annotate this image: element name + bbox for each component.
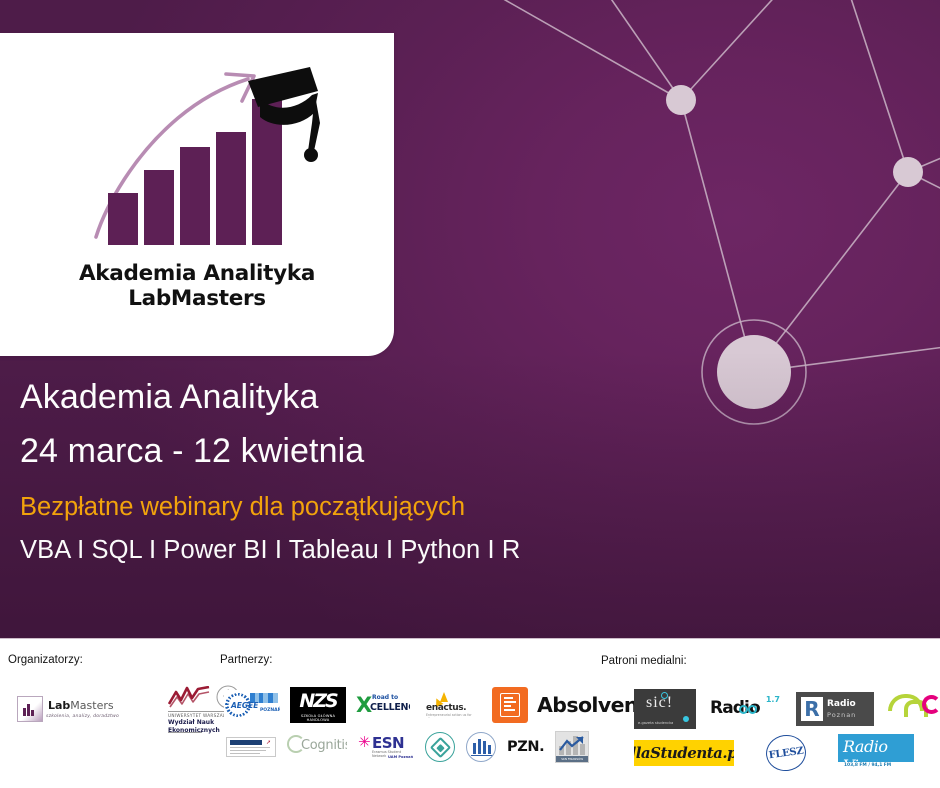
road-to-excellence-line1: Road to xyxy=(372,694,398,701)
flesz-wordmark: FLESZ xyxy=(768,745,804,761)
organizers-heading: Organizatorzy: xyxy=(8,654,83,666)
event-topics: VBA I SQL I Power BI I Tableau I Python … xyxy=(20,538,710,564)
radio-17-number: 1.7 xyxy=(766,695,780,704)
maturzysci-arrow-icon: ➚ xyxy=(266,739,271,746)
media-heading: Patroni medialni: xyxy=(601,655,687,667)
pzn-crest-icon xyxy=(466,732,496,762)
uw-wne-zigzag-icon xyxy=(168,686,210,708)
sknfm-arrow-icon xyxy=(559,736,585,752)
enactus-tagline: Entrepreneurial action us for others xyxy=(426,713,476,718)
radio-poznan-line1: Radio xyxy=(827,699,856,709)
aegee-city: POZNAŃ xyxy=(260,708,280,713)
sic-wordmark: sic! xyxy=(646,694,673,712)
radio-poznan-mark: R xyxy=(801,697,823,721)
organizers-logo-row: LabMasters szkolenia, analizy, doradztwo… xyxy=(8,684,242,734)
esn-logo: ✳ ESN Erasmus Student Network UAM Poznań xyxy=(358,733,414,761)
sic-subtitle: e-gazeta studencka xyxy=(638,721,673,725)
radio-17-ring-icon-1 xyxy=(739,705,748,714)
labmasters-logo: LabMasters szkolenia, analizy, doradztwo xyxy=(8,692,128,726)
esn-star-icon: ✳ xyxy=(358,735,371,750)
sknfm-chart-logo: SKN FINANSÓW xyxy=(555,731,589,763)
radio-poznan-logo: R Radio Poznan xyxy=(796,692,874,726)
absolvent-document-icon xyxy=(492,687,528,723)
cognitis-wordmark: Cognitis xyxy=(301,738,347,753)
labmasters-tagline: szkolenia, analizy, doradztwo xyxy=(46,714,119,719)
logo-wordmark-line2: LabMasters xyxy=(0,286,394,311)
radio-17-ring-icon-2 xyxy=(748,705,757,714)
road-to-excellence-line2: CELLENCE xyxy=(370,702,410,713)
radio-17-logo: Radio 1.7 xyxy=(710,695,782,723)
media-logo-row-1: sic! e-gazeta studencka Radio 1.7 R Radi… xyxy=(634,689,940,729)
event-title: Akademia Analityka xyxy=(20,380,710,414)
partners-heading: Partnerzy: xyxy=(220,654,272,666)
sic-dot-icon xyxy=(683,716,689,722)
partners-logo-row-2: ➚ Cognitis ✳ ESN Erasmus Student Network… xyxy=(226,731,589,763)
road-to-excellence-logo: X Road to CELLENCE xyxy=(356,693,410,717)
aegee-poznan-logo: AEGEE POZNAŃ xyxy=(224,690,280,720)
esn-section: UAM Poznań xyxy=(388,755,413,759)
cognitis-logo: Cognitis xyxy=(287,735,347,759)
brand-logo-card: Akademia Analityka LabMasters xyxy=(0,33,394,356)
radio-via-frequency: 103,8 FM / 94,1 FM xyxy=(844,763,891,768)
flesz-logo: FLESZ xyxy=(764,732,809,773)
logo-wordmark-line1: Akademia Analityka xyxy=(0,261,394,286)
logo-wordmark: Akademia Analityka LabMasters xyxy=(0,261,394,312)
enactus-logo: enactus. Entrepreneurial action us for o… xyxy=(420,692,476,718)
mc-radio-logo: r a d i o 102,7 FM xyxy=(888,694,940,724)
hero-copy: Akademia Analityka 24 marca - 12 kwietni… xyxy=(20,380,710,563)
poster-hero: Akademia Analityka LabMasters Akademia A… xyxy=(0,0,940,638)
radio-via-logo: Radio Via 103,8 FM / 94,1 FM xyxy=(838,734,914,772)
aegee-wordmark: AEGEE xyxy=(231,701,258,710)
dlastudenta-wordmark: dlaStudenta.pl xyxy=(634,744,734,762)
enactus-wordmark: enactus. xyxy=(426,703,466,713)
partners-logo-row-1: AEGEE POZNAŃ NZS SZKOŁA GŁÓWNA HANDLOWA … xyxy=(224,687,667,723)
dlastudenta-pl-logo: dlaStudenta.pl xyxy=(634,740,734,766)
mc-radio-m-icon xyxy=(888,694,924,711)
absolvent-wordmark: Absolvent xyxy=(537,693,647,717)
labmasters-mark-icon xyxy=(17,696,43,722)
labmasters-brand-bold: Lab xyxy=(48,699,70,712)
pzn-logo: PZN. xyxy=(507,739,544,755)
sponsors-footer: Organizatorzy: Partnerzy: Patroni medial… xyxy=(0,638,940,788)
mc-radio-c-icon xyxy=(922,695,940,714)
uw-faculty-line1: Wydział Nauk xyxy=(168,719,214,726)
nzs-logo: NZS SZKOŁA GŁÓWNA HANDLOWA xyxy=(290,687,346,723)
radio-poznan-line2: Poznan xyxy=(827,711,856,719)
maturzysci-logo: ➚ xyxy=(226,737,276,757)
nzs-wordmark: NZS xyxy=(293,689,343,712)
progress-circle-logo xyxy=(425,732,455,762)
progress-diamond-icon xyxy=(429,736,450,757)
growth-chart-graduation-logo-icon xyxy=(82,55,322,260)
enactus-arrow-head-icon xyxy=(440,692,448,702)
sic-logo: sic! e-gazeta studencka xyxy=(634,689,696,729)
labmasters-brand-light: Masters xyxy=(70,699,113,712)
sknfm-footer-text: SKN FINANSÓW xyxy=(556,756,588,762)
nzs-subtitle: SZKOŁA GŁÓWNA HANDLOWA xyxy=(290,714,346,722)
event-dates: 24 marca - 12 kwietnia xyxy=(20,434,710,468)
event-subtitle: Bezpłatne webinary dla początkujących xyxy=(20,495,710,521)
media-logo-row-2: dlaStudenta.pl FLESZ Radio Via 103,8 FM … xyxy=(634,734,914,772)
